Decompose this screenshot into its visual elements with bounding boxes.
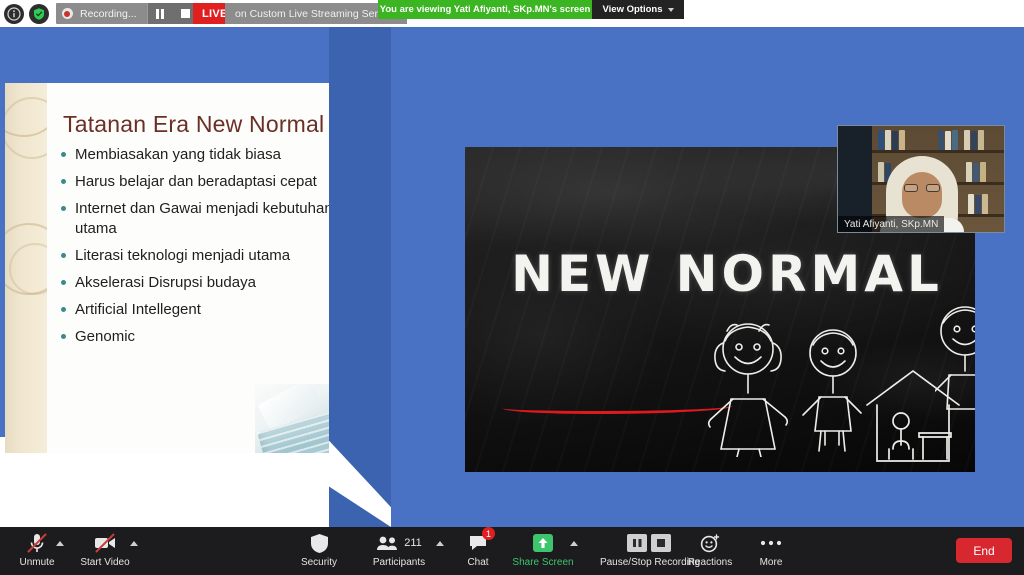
glasses-icon	[904, 184, 940, 192]
chevron-down-icon	[668, 8, 674, 12]
viewing-screen-banner: You are viewing Yati Afiyanti, SKp.MN's …	[378, 0, 592, 19]
slide-decor-strip	[5, 83, 47, 453]
book	[966, 162, 972, 182]
meeting-toolbar: Unmute Start Video Security 211 Particip…	[0, 527, 1024, 575]
top-status-bar: Recording... LIVE on Custom Live Streami…	[0, 0, 1024, 27]
bullet-item: Artificial Intellegent	[60, 300, 375, 319]
toolbar-label: Participants	[373, 557, 425, 568]
video-options-chevron-icon[interactable]	[130, 541, 138, 546]
info-icon[interactable]	[4, 4, 24, 24]
view-options-label: View Options	[602, 4, 662, 15]
toolbar-label: Unmute	[19, 557, 54, 568]
book	[892, 131, 898, 150]
share-screen-icon	[532, 531, 554, 555]
pause-stop-icon	[627, 531, 673, 555]
shield-icon[interactable]	[29, 4, 49, 24]
book	[938, 130, 944, 150]
stop-icon	[181, 9, 190, 18]
toolbar-more-button[interactable]: More	[736, 531, 806, 568]
book	[978, 130, 984, 150]
pause-recording-button[interactable]	[147, 3, 173, 24]
bullet-item: Harus belajar dan beradaptasi cepat	[60, 172, 375, 191]
chalk-boy-drawing	[795, 315, 871, 455]
book	[878, 162, 884, 182]
toolbar-reactions-button[interactable]: Reactions	[675, 531, 745, 568]
video-muted-icon	[93, 531, 117, 555]
book	[968, 194, 974, 214]
share-options-chevron-icon[interactable]	[570, 541, 578, 546]
recording-dot-icon	[56, 8, 78, 19]
shelf-line	[872, 150, 1005, 153]
pause-icon	[156, 9, 164, 19]
chalk-girl-drawing	[703, 307, 793, 457]
book	[885, 130, 891, 150]
toolbar-label: Share Screen	[512, 557, 573, 568]
decor-circle	[5, 97, 47, 159]
book	[973, 163, 979, 182]
slide-bullet-list: Membiasakan yang tidak biasa Harus belaj…	[60, 145, 375, 355]
book	[899, 130, 905, 150]
toolbar-unmute-button[interactable]: Unmute	[2, 531, 72, 568]
audio-options-chevron-icon[interactable]	[56, 541, 64, 546]
book	[982, 194, 988, 214]
toolbar-label: Reactions	[688, 557, 732, 568]
bullet-item: Literasi teknologi menjadi utama	[60, 246, 375, 265]
shield-icon	[310, 531, 329, 555]
toolbar-start-video-button[interactable]: Start Video	[70, 531, 140, 568]
toolbar-label: Security	[301, 557, 337, 568]
book	[975, 195, 981, 214]
toolbar-label: Start Video	[80, 557, 129, 568]
toolbar-security-button[interactable]: Security	[284, 531, 354, 568]
slide-previous-card: Tatanan Era New Normal Membiasakan yang …	[5, 83, 380, 453]
participants-icon: 211	[376, 531, 422, 555]
slide-previous: Tatanan Era New Normal Membiasakan yang …	[0, 27, 391, 437]
chalk-partial-figure	[935, 295, 975, 415]
bullet-item: Membiasakan yang tidak biasa	[60, 145, 375, 164]
end-meeting-button[interactable]: End	[956, 538, 1012, 563]
toolbar-label: More	[760, 557, 783, 568]
end-meeting-label: End	[973, 544, 994, 558]
toolbar-participants-button[interactable]: 211 Participants	[363, 531, 435, 568]
recording-bar: Recording...	[56, 3, 199, 24]
toolbar-share-screen-button[interactable]: Share Screen	[508, 531, 578, 568]
self-view-name-label: Yati Afiyanti, SKp.MN	[838, 216, 944, 232]
view-options-button[interactable]: View Options	[592, 0, 684, 19]
book	[878, 130, 884, 150]
chalkboard-headline: NEW NORMAL	[487, 245, 967, 303]
microphone-muted-icon	[27, 531, 47, 555]
zoom-meeting-window: Recording... LIVE on Custom Live Streami…	[0, 0, 1024, 575]
toolbar-label: Chat	[467, 557, 488, 568]
recording-label: Recording...	[78, 8, 147, 20]
more-ellipsis-icon	[759, 531, 783, 555]
bullet-item: Genomic	[60, 327, 375, 346]
shared-screen-stage: Tatanan Era New Normal Membiasakan yang …	[0, 27, 1024, 527]
book	[964, 130, 970, 150]
book	[945, 131, 951, 150]
book	[980, 162, 986, 182]
chat-unread-badge: 1	[482, 527, 495, 540]
participants-count: 211	[404, 537, 422, 549]
chat-icon: 1	[468, 531, 488, 555]
face-shape	[902, 172, 942, 218]
bullet-item: Akselerasi Disrupsi budaya	[60, 273, 375, 292]
toolbar-chat-button[interactable]: 1 Chat	[443, 531, 513, 568]
book	[952, 130, 958, 150]
book	[971, 131, 977, 150]
bullet-item: Internet dan Gawai menjadi kebutuhan uta…	[60, 199, 375, 237]
self-view-thumbnail[interactable]: Yati Afiyanti, SKp.MN	[837, 125, 1005, 233]
reactions-icon	[699, 531, 721, 555]
slide-title: Tatanan Era New Normal	[63, 111, 324, 138]
